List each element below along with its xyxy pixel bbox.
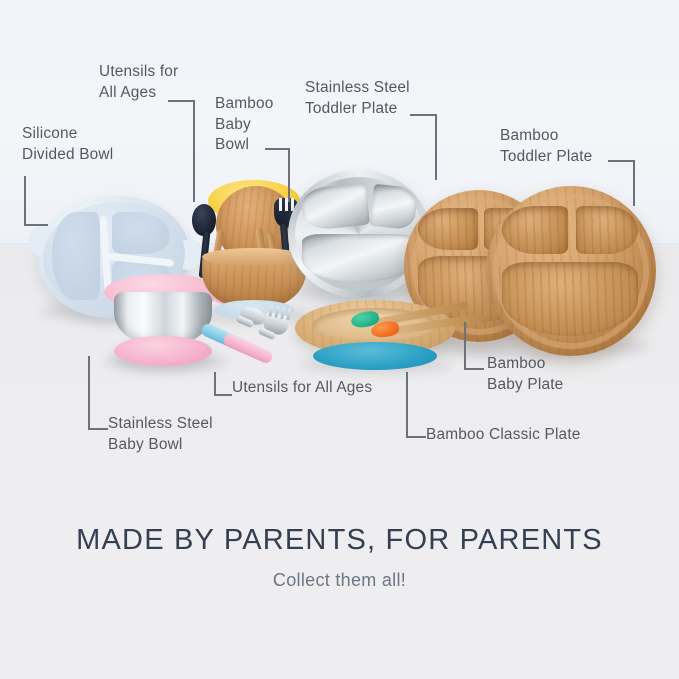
leader-line-stainless-steel-baby-bowl [88,356,110,430]
leader-segment-horizontal [24,224,48,226]
steel-plate-section-3 [302,234,416,282]
leader-segment-horizontal [464,368,484,370]
fork-tine-steel [280,307,285,319]
leader-segment-horizontal [608,160,634,162]
footer-subline: Collect them all! [0,570,679,591]
leader-segment-horizontal [406,436,426,438]
leader-line-bamboo-baby-plate [464,322,486,370]
classic-plate-blue-suction-base [313,342,437,370]
callout-label-silicone-divided-bowl: Silicone Divided Bowl [22,124,113,165]
callout-label-utensils-bottom: Utensils for All Ages [232,378,372,399]
fork-tine-steel [268,305,273,317]
fork-tine-steel [286,308,291,320]
leader-line-stainless-steel-toddler-plate [410,114,438,180]
leader-line-silicone-divided-bowl [24,176,50,226]
leader-segment-horizontal [168,100,194,102]
leader-segment-horizontal [265,148,289,150]
bamboo-plate-section-front-1 [502,206,568,254]
leader-line-utensils-top [168,100,196,202]
leader-line-bamboo-toddler-plate [608,160,636,206]
callout-label-stainless-steel-baby-bowl: Stainless Steel Baby Bowl [108,414,213,455]
leader-segment-vertical [24,176,26,226]
product-bamboo-classic-plate [295,300,455,372]
fork-tine-steel [274,306,279,318]
leader-line-bamboo-classic-plate [406,372,428,438]
silicone-bowl-compartment-1 [52,212,100,300]
bamboo-plate-section-back-1 [418,208,478,250]
callout-label-bamboo-toddler-plate: Bamboo Toddler Plate [500,126,592,167]
callout-label-bamboo-baby-plate: Bamboo Baby Plate [487,354,563,395]
leader-segment-vertical [435,114,437,180]
leader-segment-horizontal [88,428,108,430]
leader-segment-vertical [214,372,216,396]
leader-segment-vertical [464,322,466,370]
leader-segment-vertical [193,100,195,202]
bamboo-plate-section-front-2 [576,206,638,254]
callout-label-bamboo-classic-plate: Bamboo Classic Plate [426,425,581,446]
leader-segment-vertical [88,356,90,430]
product-utensils-for-all-ages [200,302,308,364]
footer-headline: MADE BY PARENTS, FOR PARENTS [0,524,679,557]
callout-label-bamboo-baby-bowl: Bamboo Baby Bowl [215,94,274,156]
infographic-canvas: Silicone Divided Bowl Utensils for All A… [0,0,679,679]
bamboo-plate-section-front-3 [502,262,638,336]
product-bamboo-toddler-plate-front [486,186,656,356]
leader-segment-horizontal [214,394,232,396]
leader-segment-horizontal [410,114,436,116]
baby-bowl-pink-suction-base [114,336,212,366]
callout-label-utensils-top: Utensils for All Ages [99,62,178,103]
leader-segment-vertical [288,148,290,202]
leader-segment-vertical [406,372,408,438]
leader-line-utensils-bottom [214,372,234,396]
leader-line-bamboo-baby-bowl [265,148,291,202]
callout-label-stainless-steel-toddler-plate: Stainless Steel Toddler Plate [305,78,410,119]
leader-segment-vertical [633,160,635,206]
